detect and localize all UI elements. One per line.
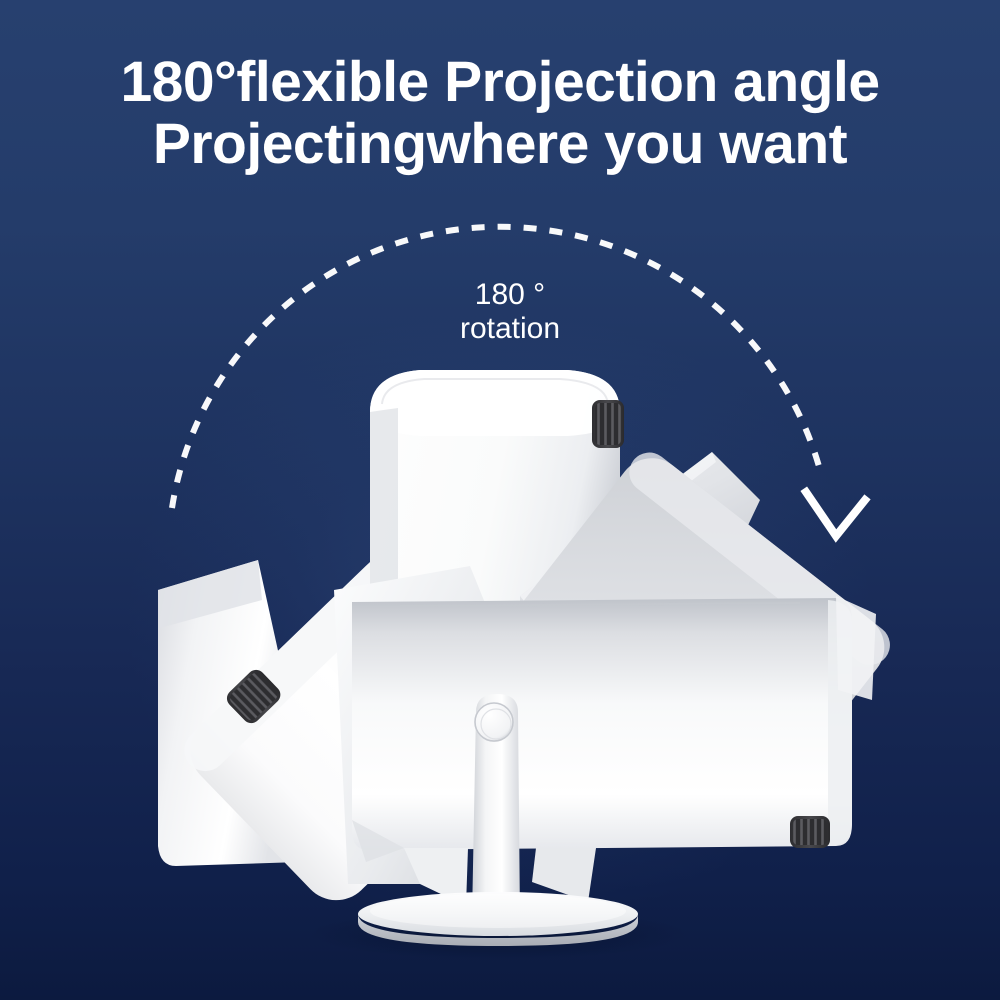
arrow-head-icon [806, 492, 865, 536]
rotation-value: 180 ° [395, 278, 625, 312]
page-title: 180°flexible Projection angle Projecting… [0, 52, 1000, 175]
rotation-label: rotation [395, 312, 625, 346]
product-marketing-image: 180°flexible Projection angle Projecting… [0, 0, 1000, 1000]
headline-line-1: 180°flexible Projection angle [0, 52, 1000, 114]
rotation-annotation: 180 ° rotation [395, 278, 625, 345]
rotation-arc-dashed [172, 227, 820, 508]
headline-line-2: Projectingwhere you want [0, 114, 1000, 176]
